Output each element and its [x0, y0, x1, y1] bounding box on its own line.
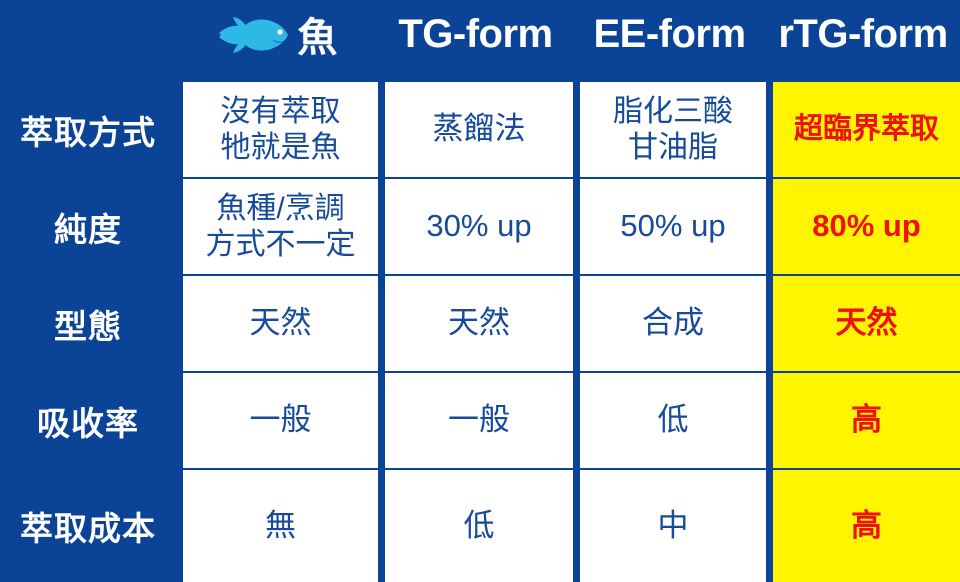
cell-extraction-method-rtg: 超臨界萃取	[766, 82, 960, 177]
table-header-row: 魚 TG-form EE-form rTG-form	[0, 0, 960, 68]
header-cell-tg: TG-form	[378, 0, 573, 68]
cell-extraction-cost-rtg: 高	[766, 470, 960, 582]
row-label-form: 型態	[0, 276, 176, 371]
table-row: 型態 天然 天然 合成 天然	[0, 276, 960, 371]
cell-absorption-rate-fish: 一般	[176, 373, 378, 468]
fish-icon	[217, 15, 291, 55]
header-cell-rtg: rTG-form	[766, 0, 960, 68]
cell-form-ee: 合成	[573, 276, 766, 371]
header-fish-label: 魚	[297, 5, 337, 63]
header-cell-label	[0, 0, 176, 68]
cell-purity-ee: 50% up	[573, 179, 766, 274]
row-label-absorption-rate: 吸收率	[0, 373, 176, 468]
cell-absorption-rate-tg: 一般	[378, 373, 573, 468]
cell-purity-rtg: 80% up	[766, 179, 960, 274]
table-row: 萃取成本 無 低 中 高	[0, 470, 960, 582]
table-row: 純度 魚種/烹調 方式不一定 30% up 50% up 80% up	[0, 179, 960, 274]
cell-extraction-cost-tg: 低	[378, 470, 573, 582]
cell-extraction-method-fish: 沒有萃取 牠就是魚	[176, 82, 378, 177]
cell-extraction-cost-fish: 無	[176, 470, 378, 582]
table-row: 萃取方式 沒有萃取 牠就是魚 蒸餾法 脂化三酸 甘油脂 超臨界萃取	[0, 82, 960, 177]
cell-form-tg: 天然	[378, 276, 573, 371]
header-cell-fish: 魚	[176, 0, 378, 68]
cell-form-fish: 天然	[176, 276, 378, 371]
row-label-extraction-method: 萃取方式	[0, 82, 176, 177]
comparison-table: 魚 TG-form EE-form rTG-form 萃取方式 沒有萃取 牠就是…	[0, 0, 960, 582]
cell-extraction-method-ee: 脂化三酸 甘油脂	[573, 82, 766, 177]
cell-absorption-rate-rtg: 高	[766, 373, 960, 468]
table-row: 吸收率 一般 一般 低 高	[0, 373, 960, 468]
table-body: 萃取方式 沒有萃取 牠就是魚 蒸餾法 脂化三酸 甘油脂 超臨界萃取 純度 魚種/…	[0, 68, 960, 582]
row-label-extraction-cost: 萃取成本	[0, 470, 176, 582]
cell-purity-tg: 30% up	[378, 179, 573, 274]
cell-form-rtg: 天然	[766, 276, 960, 371]
cell-absorption-rate-ee: 低	[573, 373, 766, 468]
cell-extraction-cost-ee: 中	[573, 470, 766, 582]
cell-extraction-method-tg: 蒸餾法	[378, 82, 573, 177]
cell-purity-fish: 魚種/烹調 方式不一定	[176, 179, 378, 274]
row-label-purity: 純度	[0, 179, 176, 274]
header-cell-ee: EE-form	[573, 0, 766, 68]
